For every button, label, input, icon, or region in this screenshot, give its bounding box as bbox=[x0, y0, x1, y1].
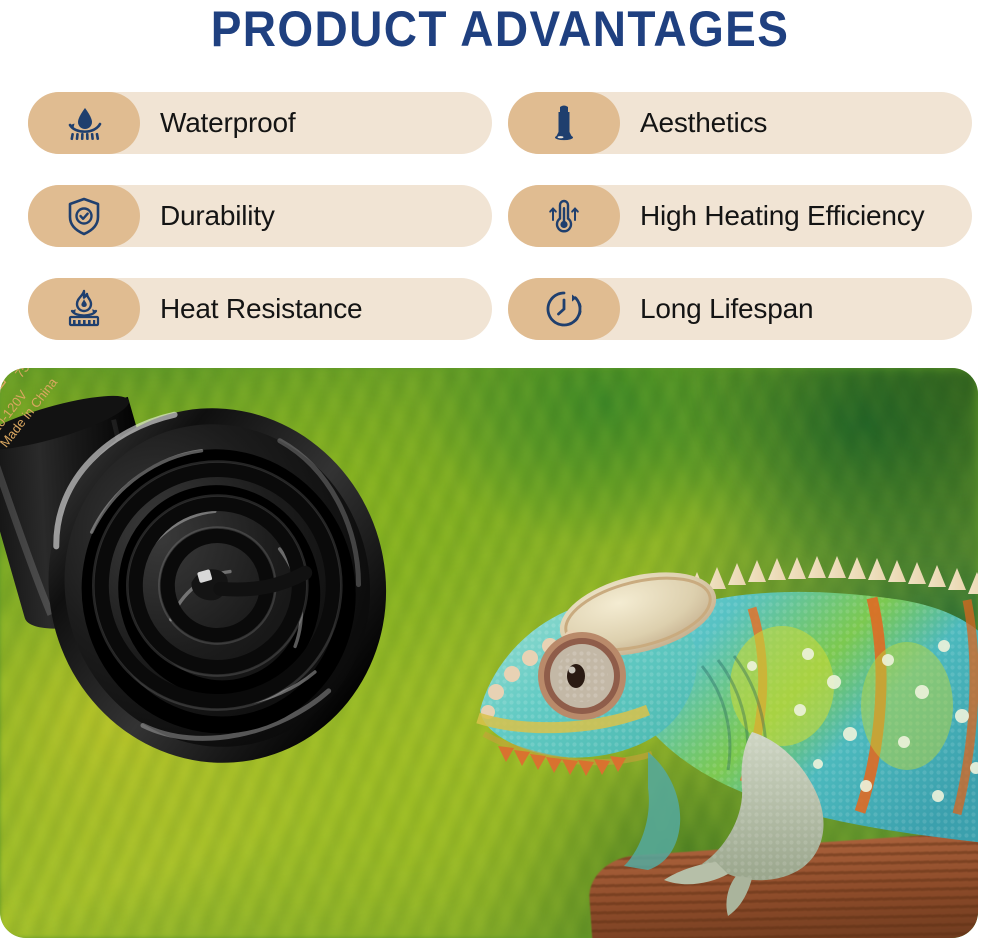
lamp-bulb-icon bbox=[508, 92, 620, 154]
feature-pill-high-heating-efficiency[interactable]: High Heating Efficiency bbox=[508, 185, 972, 247]
flame-surface-icon bbox=[28, 278, 140, 340]
product-advantages-infographic: PRODUCT ADVANTAGES bbox=[0, 0, 1000, 938]
svg-text:75W: 75W bbox=[12, 368, 41, 381]
feature-label: Long Lifespan bbox=[640, 293, 813, 325]
ceramic-heat-emitter: CE 110-120V Made in China 75W bbox=[0, 368, 444, 794]
feature-pill-heat-resistance[interactable]: Heat Resistance bbox=[28, 278, 492, 340]
shield-check-icon bbox=[28, 185, 140, 247]
chameleon-photo bbox=[452, 496, 978, 938]
feature-label: Durability bbox=[160, 200, 275, 232]
thermometer-up-arrows-icon bbox=[508, 185, 620, 247]
feature-label: High Heating Efficiency bbox=[640, 200, 924, 232]
page-title: PRODUCT ADVANTAGES bbox=[40, 0, 960, 58]
waterproof-droplet-icon bbox=[28, 92, 140, 154]
feature-label: Aesthetics bbox=[640, 107, 767, 139]
feature-pill-aesthetics[interactable]: Aesthetics bbox=[508, 92, 972, 154]
clock-refresh-icon bbox=[508, 278, 620, 340]
feature-pill-grid: Waterproof Aesthetics bbox=[28, 92, 972, 340]
feature-pill-waterproof[interactable]: Waterproof bbox=[28, 92, 492, 154]
product-photo: CE 110-120V Made in China 75W bbox=[0, 368, 978, 938]
feature-label: Heat Resistance bbox=[160, 293, 362, 325]
feature-pill-long-lifespan[interactable]: Long Lifespan bbox=[508, 278, 972, 340]
feature-pill-durability[interactable]: Durability bbox=[28, 185, 492, 247]
feature-label: Waterproof bbox=[160, 107, 295, 139]
